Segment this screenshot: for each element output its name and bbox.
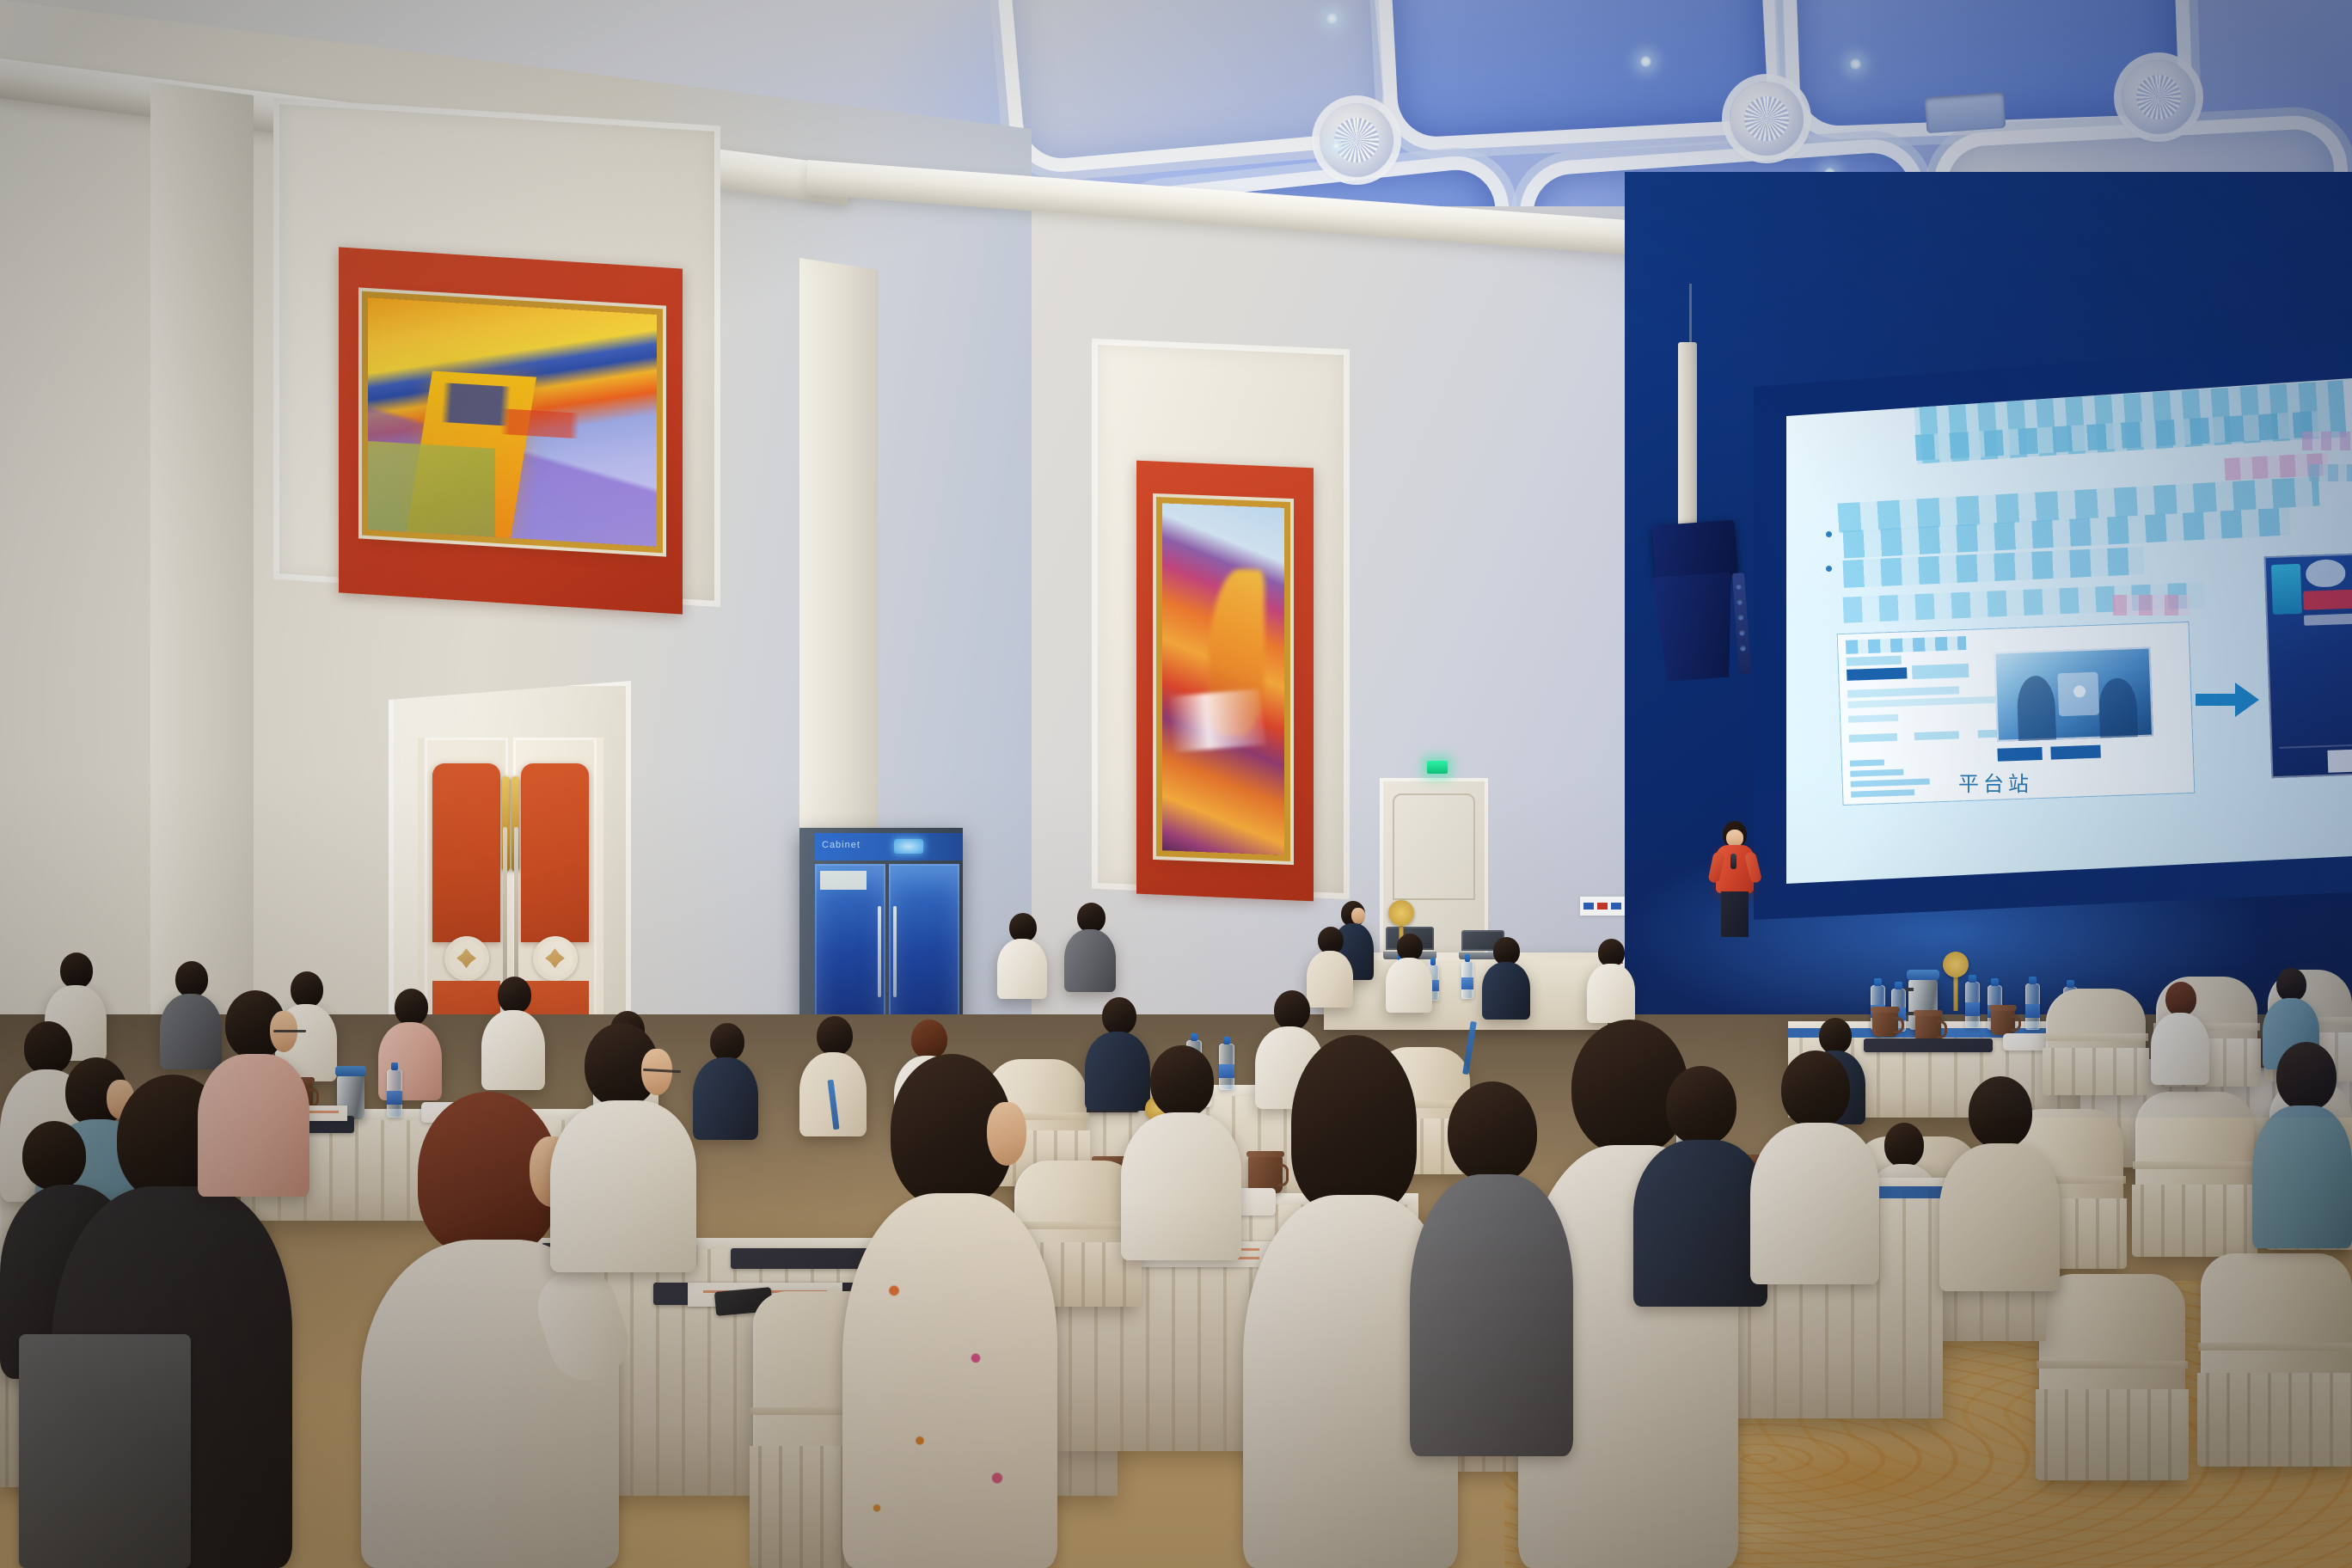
card-preview-photo <box>1994 646 2154 741</box>
attendee-pink-shirt <box>198 990 309 1197</box>
emergency-exit-sign <box>1427 761 1448 774</box>
presenter <box>1709 821 1761 937</box>
handheld-microphone <box>1730 854 1736 869</box>
ceiling-downlight <box>1850 58 1861 70</box>
door-medallion <box>533 936 578 981</box>
attendee <box>1064 903 1116 992</box>
card-meta-redacted <box>1912 664 1969 679</box>
ceramic-teacup[interactable] <box>1991 1009 2015 1035</box>
projection-screen[interactable]: 平台站 <box>1786 378 2352 884</box>
hanging-line-array-speaker <box>1647 520 1749 681</box>
slide-edge-redacted <box>2309 464 2352 481</box>
slide-bullet <box>1826 531 1832 537</box>
slide-edge-redacted <box>2302 432 2352 450</box>
card-meta-redacted <box>1847 656 1902 666</box>
attendee <box>1587 939 1635 1023</box>
table-number-stand <box>1945 970 1967 1011</box>
ceiling-rosette <box>1730 82 1804 156</box>
water-bottle[interactable] <box>1965 982 1980 1028</box>
speaker-wire <box>1689 284 1692 351</box>
refrigerator-door-right[interactable] <box>889 864 959 1039</box>
conference-hall-photo: Cabinet <box>0 0 2352 1568</box>
ceiling-rosette <box>1320 103 1393 177</box>
attendee <box>997 913 1047 999</box>
banquet-chair[interactable] <box>2046 989 2146 1095</box>
attendee <box>1633 1066 1767 1307</box>
attendee <box>1121 1045 1241 1260</box>
refrigerator-display <box>894 839 923 854</box>
door-panel <box>432 763 501 942</box>
attendee <box>550 1023 696 1272</box>
ceiling-downlight <box>1640 56 1651 67</box>
attendee <box>1386 934 1432 1013</box>
door-medallion <box>444 936 489 981</box>
slide-bullet <box>1826 566 1832 572</box>
water-bottle[interactable] <box>1461 961 1473 999</box>
ceiling-vent <box>1925 92 2006 133</box>
attendee <box>2151 982 2209 1085</box>
banquet-chair[interactable] <box>2135 1092 2254 1257</box>
attendee-floral-blouse <box>842 1054 1057 1568</box>
attendee <box>481 977 545 1090</box>
water-bottle[interactable] <box>2025 983 2040 1030</box>
backpack[interactable] <box>19 1334 191 1568</box>
attendee <box>1482 937 1530 1020</box>
ceramic-teacup[interactable] <box>1872 1011 1898 1037</box>
attendee <box>1939 1076 2060 1291</box>
speaker-mounting-pole <box>1678 342 1697 530</box>
refrigerator-label <box>820 871 867 890</box>
attendee <box>1750 1050 1879 1284</box>
slide-arrow-icon <box>2196 681 2259 719</box>
ceiling-downlight <box>1326 13 1338 24</box>
ceiling-coffer <box>1386 0 1768 138</box>
attendee <box>1410 1081 1573 1456</box>
refrigerator-header-panel: Cabinet <box>815 833 963 861</box>
abstract-landscape-painting <box>368 297 657 547</box>
abstract-figure-painting <box>1162 503 1284 854</box>
card-action-button <box>1997 747 2042 762</box>
banquet-chair[interactable] <box>2039 1274 2185 1480</box>
ceiling-downlight <box>1331 140 1342 151</box>
door-push-rod <box>514 827 518 1000</box>
card-tag-button <box>1847 667 1907 680</box>
glass-door-refrigerator[interactable]: Cabinet <box>799 828 963 1043</box>
dark-placemat <box>1864 1038 1993 1052</box>
slide-device-mockup <box>2264 553 2352 778</box>
attendee <box>693 1023 758 1140</box>
card-action-button <box>2050 745 2100 760</box>
banquet-chair[interactable] <box>2201 1253 2352 1467</box>
card-title-redacted <box>1846 636 1966 654</box>
door-panel <box>521 763 590 942</box>
ceiling-rosette <box>2122 60 2196 134</box>
wall-pilaster <box>150 82 254 1044</box>
slide-caption: 平台站 <box>1958 767 2033 797</box>
door-push-rod <box>503 827 507 1000</box>
refrigerator-door-left[interactable] <box>815 864 885 1039</box>
slide-highlight-redacted <box>2113 595 2190 616</box>
attendee <box>2252 1042 2352 1248</box>
